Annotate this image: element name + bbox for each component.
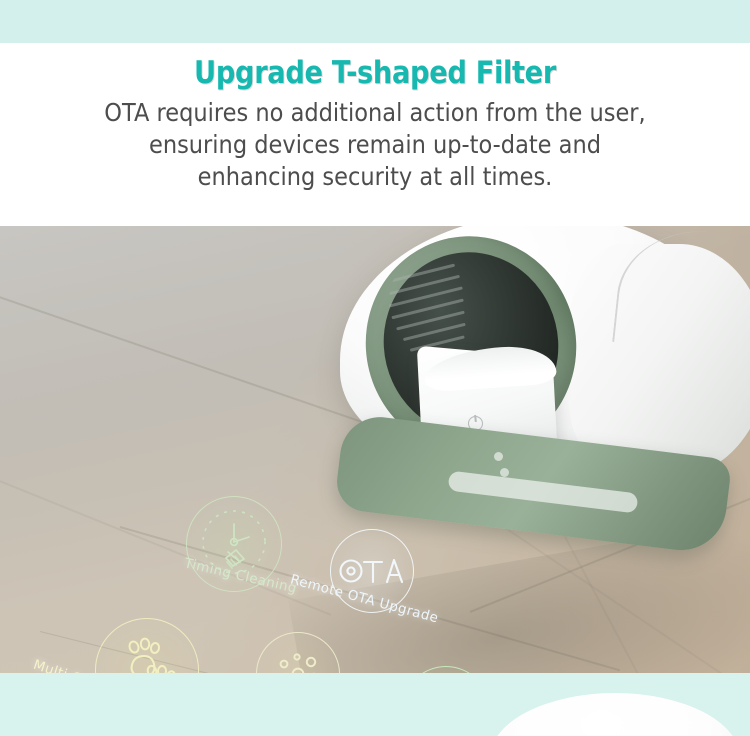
feature-multi-cat-recognition[interactable]: Multi Cat Recognition — [95, 618, 199, 673]
feature-remote-ota-upgrade[interactable]: Remote OTA Upgrade — [330, 529, 414, 613]
bottom-accent-band — [0, 673, 750, 736]
feature-sand-type-selection[interactable]: Sand Type Selection — [256, 632, 340, 673]
promo-banner: Upgrade T-shaped Filter OTA requires no … — [0, 0, 750, 736]
header-text-block: Upgrade T-shaped Filter OTA requires no … — [0, 43, 750, 226]
broom-waves-icon — [402, 666, 490, 673]
litter-box-device — [318, 226, 750, 544]
device-base-indicator — [500, 468, 509, 477]
product-photo: Timing Cleaning Remote OTA Upgrade — [0, 226, 750, 673]
paw-prints-icon — [95, 618, 199, 673]
page-subtitle: OTA requires no additional action from t… — [38, 92, 713, 193]
subtitle-line-2: ensuring devices remain up-to-date and — [38, 129, 713, 161]
sand-granules-icon — [256, 632, 340, 673]
device-base-indicator — [494, 452, 503, 461]
feature-timing-cleaning[interactable]: Timing Cleaning — [186, 496, 282, 592]
page-title: Upgrade T-shaped Filter — [45, 43, 705, 92]
next-section-device-preview — [490, 693, 740, 736]
subtitle-line-3: enhancing security at all times. — [38, 161, 713, 193]
top-accent-band — [0, 0, 750, 43]
feature-auto-cleaning[interactable]: Auto Cleaning — [402, 666, 490, 673]
subtitle-line-1: OTA requires no additional action from t… — [38, 97, 713, 129]
